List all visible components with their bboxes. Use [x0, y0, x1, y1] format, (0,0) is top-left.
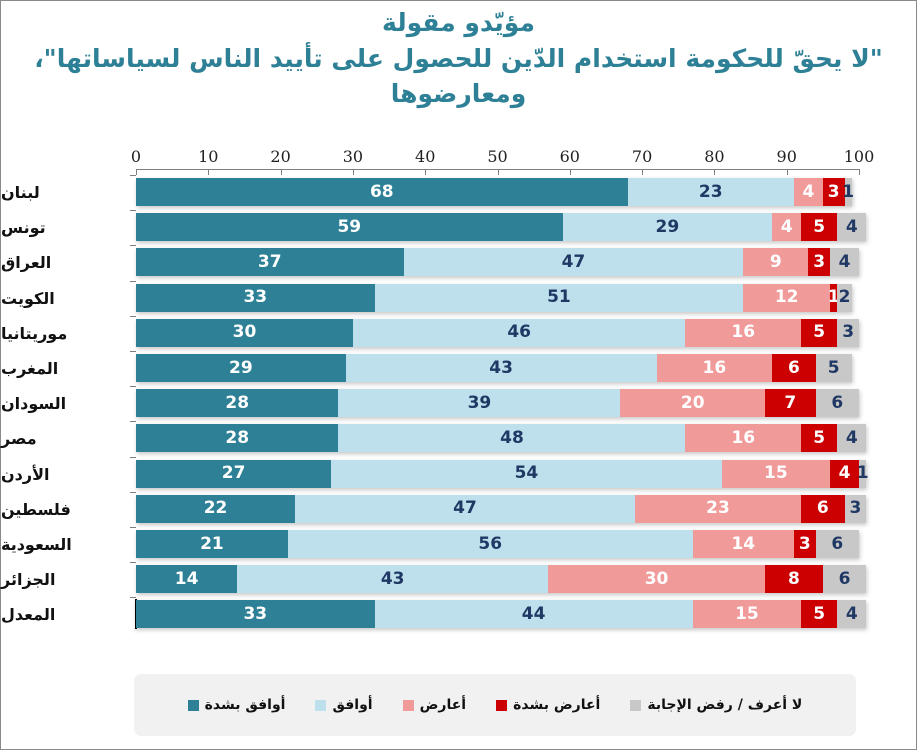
- bar-segment: 6: [816, 530, 859, 558]
- bar-value-label: 4: [781, 219, 793, 236]
- bar-value-label: 33: [243, 606, 267, 623]
- bar-value-label: 16: [731, 324, 755, 341]
- x-axis-tick-40: 40: [415, 147, 435, 166]
- bar-segment: 33: [136, 284, 375, 312]
- bar-segment: 4: [830, 248, 859, 276]
- bar-segment: 5: [801, 319, 837, 347]
- x-axis-tick-50: 50: [487, 147, 507, 166]
- bar-segment: 43: [237, 565, 548, 593]
- bar-value-label: 16: [731, 430, 755, 447]
- bar-value-label: 29: [229, 360, 253, 377]
- bar-segment: 28: [136, 389, 338, 417]
- legend-item-2[interactable]: أعارض: [403, 697, 467, 713]
- bar-value-label: 28: [225, 395, 249, 412]
- category-label-6: السودان: [1, 396, 124, 412]
- bar-value-label: 12: [775, 289, 799, 306]
- bar-value-label: 4: [846, 430, 858, 447]
- legend-label: أوافق: [332, 697, 372, 713]
- x-axis-tick-labels: 0102030405060708090100: [136, 147, 859, 169]
- bar-segment: 5: [801, 424, 837, 452]
- bar-segment: 44: [375, 600, 693, 628]
- legend-label: أعارض بشدة: [513, 697, 600, 713]
- bar-segment: 2: [837, 284, 851, 312]
- plot-area: 6823431592945437479343351121230461653294…: [136, 173, 859, 643]
- bar-segment: 4: [837, 424, 866, 452]
- bar-value-label: 14: [731, 536, 755, 553]
- category-label-9: فلسطين: [1, 502, 124, 518]
- bar-value-label: 5: [813, 606, 825, 623]
- bar-value-label: 2: [839, 289, 851, 306]
- chart-title: مؤيّدو مقولة "لا يحقّ للحكومة استخدام ال…: [1, 5, 916, 112]
- bar-value-label: 6: [831, 395, 843, 412]
- bar-segment: 22: [136, 495, 295, 523]
- category-label-2: العراق: [1, 255, 124, 271]
- bar-value-label: 6: [831, 536, 843, 553]
- bar-value-label: 3: [849, 500, 861, 517]
- bar-value-label: 8: [788, 571, 800, 588]
- bar-segment: 6: [823, 565, 866, 593]
- bar-value-label: 44: [522, 606, 546, 623]
- bar-value-label: 4: [846, 606, 858, 623]
- bar-value-label: 39: [468, 395, 492, 412]
- bar-segment: 28: [136, 424, 338, 452]
- bar-value-label: 16: [703, 360, 727, 377]
- bar-value-label: 4: [846, 219, 858, 236]
- bar-segment: 23: [635, 495, 801, 523]
- legend-label: أعارض: [420, 697, 467, 713]
- bar-value-label: 27: [222, 465, 246, 482]
- bar-segment: 20: [620, 389, 765, 417]
- bar-value-label: 22: [204, 500, 228, 517]
- category-label-4: موريتانيا: [1, 326, 124, 342]
- bar-segment: 4: [772, 213, 801, 241]
- bar-segment: 16: [657, 354, 773, 382]
- bar-segment: 30: [136, 319, 353, 347]
- legend-item-3[interactable]: أعارض بشدة: [496, 697, 600, 713]
- bar-segment: 5: [816, 354, 852, 382]
- bar-segment: 16: [685, 424, 801, 452]
- bar-segment: 54: [331, 460, 721, 488]
- bar-segment: 47: [404, 248, 744, 276]
- bar-value-label: 20: [681, 395, 705, 412]
- chart-legend: أوافق بشدةأوافقأعارضأعارض بشدةلا أعرف / …: [134, 674, 856, 736]
- bar-segment: 37: [136, 248, 404, 276]
- bar-value-label: 56: [478, 536, 502, 553]
- bar-segment: 5: [801, 213, 837, 241]
- bar-value-label: 3: [799, 536, 811, 553]
- x-axis-tick-10: 10: [198, 147, 218, 166]
- bar-segment: 4: [794, 178, 823, 206]
- bar-value-label: 9: [770, 254, 782, 271]
- bar-value-label: 15: [764, 465, 788, 482]
- bar-value-label: 48: [500, 430, 524, 447]
- bar-value-label: 43: [489, 360, 513, 377]
- bar-segment: 6: [816, 389, 859, 417]
- bar-segment: 48: [338, 424, 685, 452]
- bar-value-label: 33: [243, 289, 267, 306]
- bar-value-label: 4: [839, 465, 851, 482]
- x-axis-tick-30: 30: [343, 147, 363, 166]
- category-label-10: السعودية: [1, 537, 124, 553]
- bar-value-label: 59: [337, 219, 361, 236]
- x-axis-tick-80: 80: [704, 147, 724, 166]
- bar-value-label: 54: [515, 465, 539, 482]
- bar-segment: 30: [548, 565, 765, 593]
- bar-segment: 46: [353, 319, 686, 347]
- bar-value-label: 6: [839, 571, 851, 588]
- bar-segment: 15: [693, 600, 801, 628]
- bar-value-label: 7: [784, 395, 796, 412]
- bar-value-label: 1: [857, 465, 869, 482]
- bar-segment: 3: [794, 530, 816, 558]
- bar-value-label: 15: [735, 606, 759, 623]
- category-label-0: لبنان: [1, 185, 124, 201]
- bar-value-label: 21: [200, 536, 224, 553]
- bar-value-label: 68: [370, 184, 394, 201]
- chart-title-line-2: "لا يحقّ للحكومة استخدام الدّين للحصول ع…: [1, 41, 916, 77]
- bar-value-label: 3: [842, 324, 854, 341]
- bar-value-label: 47: [453, 500, 477, 517]
- category-label-1: تونس: [1, 220, 124, 236]
- bar-segment: 5: [801, 600, 837, 628]
- chart-title-line-3: ومعارضوها: [1, 76, 916, 112]
- bar-value-label: 3: [828, 184, 840, 201]
- bar-segment: 4: [837, 600, 866, 628]
- bar-value-label: 51: [547, 289, 571, 306]
- bar-value-label: 1: [842, 184, 854, 201]
- category-label-11: الجزائر: [1, 572, 124, 588]
- legend-label: أوافق بشدة: [205, 697, 286, 713]
- bar-value-label: 5: [813, 430, 825, 447]
- bar-value-label: 30: [233, 324, 257, 341]
- bar-segment: 21: [136, 530, 288, 558]
- legend-swatch-icon: [403, 700, 414, 711]
- bar-segment: 9: [743, 248, 808, 276]
- legend-item-0[interactable]: أوافق بشدة: [188, 697, 286, 713]
- bar-value-label: 47: [562, 254, 586, 271]
- bar-segment: 43: [346, 354, 657, 382]
- bar-value-label: 23: [706, 500, 730, 517]
- bar-value-label: 3: [813, 254, 825, 271]
- bar-segment: 1: [845, 178, 852, 206]
- bar-segment: 39: [338, 389, 620, 417]
- bar-value-label: 5: [813, 219, 825, 236]
- bar-value-label: 29: [656, 219, 680, 236]
- legend-swatch-icon: [188, 700, 199, 711]
- bar-segment: 12: [743, 284, 830, 312]
- category-label-8: الأردن: [1, 467, 124, 483]
- legend-item-4[interactable]: لا أعرف / رفض الإجابة: [630, 697, 802, 713]
- category-label-3: الكويت: [1, 291, 124, 307]
- bar-segment: 4: [830, 460, 859, 488]
- bar-segment: 3: [808, 248, 830, 276]
- legend-swatch-icon: [315, 700, 326, 711]
- bar-segment: 56: [288, 530, 693, 558]
- legend-swatch-icon: [630, 700, 641, 711]
- bar-segment: 3: [845, 495, 867, 523]
- bar-segment: 29: [136, 354, 346, 382]
- bar-segment: 7: [765, 389, 816, 417]
- bar-segment: 23: [628, 178, 794, 206]
- bar-value-label: 30: [645, 571, 669, 588]
- bar-segment: 68: [136, 178, 628, 206]
- legend-item-1[interactable]: أوافق: [315, 697, 372, 713]
- bar-value-label: 23: [699, 184, 723, 201]
- bar-segment: 51: [375, 284, 744, 312]
- bar-segment: 3: [837, 319, 859, 347]
- bar-segment: 33: [136, 600, 375, 628]
- x-axis-tick-70: 70: [632, 147, 652, 166]
- bar-segment: 1: [830, 284, 837, 312]
- bar-segment: 6: [801, 495, 844, 523]
- bar-value-label: 4: [802, 184, 814, 201]
- category-label-12: المعدل: [1, 607, 124, 623]
- x-axis-tick-20: 20: [270, 147, 290, 166]
- bar-value-label: 28: [225, 430, 249, 447]
- bar-segment: 1: [859, 460, 866, 488]
- bar-segment: 47: [295, 495, 635, 523]
- bar-segment: 4: [837, 213, 866, 241]
- bar-value-label: 6: [788, 360, 800, 377]
- bar-segment: 14: [693, 530, 794, 558]
- bar-value-label: 37: [258, 254, 282, 271]
- category-label-7: مصر: [1, 431, 124, 447]
- x-axis-tick-0: 0: [131, 147, 141, 166]
- bar-value-label: 6: [817, 500, 829, 517]
- x-axis-tick-90: 90: [777, 147, 797, 166]
- x-axis-tick-100: 100: [844, 147, 875, 166]
- x-axis-tick-60: 60: [560, 147, 580, 166]
- bar-value-label: 43: [381, 571, 405, 588]
- bar-value-label: 14: [175, 571, 199, 588]
- bar-segment: 59: [136, 213, 563, 241]
- legend-label: لا أعرف / رفض الإجابة: [647, 697, 802, 713]
- bar-segment: 16: [685, 319, 801, 347]
- bar-value-label: 5: [828, 360, 840, 377]
- bar-segment: 14: [136, 565, 237, 593]
- bar-segment: 6: [772, 354, 815, 382]
- x-axis-tick-mark: [859, 169, 860, 175]
- chart-title-line-1: مؤيّدو مقولة: [1, 5, 916, 41]
- bar-segment: 27: [136, 460, 331, 488]
- bar-segment: 8: [765, 565, 823, 593]
- bar-value-label: 4: [839, 254, 851, 271]
- y-axis-category-labels: لبنانتونسالعراقالكويتموريتانياالمغربالسو…: [1, 173, 130, 643]
- bar-value-label: 46: [507, 324, 531, 341]
- chart-container: مؤيّدو مقولة "لا يحقّ للحكومة استخدام ال…: [0, 0, 917, 750]
- bar-segment: 15: [722, 460, 830, 488]
- bar-segment: 29: [563, 213, 773, 241]
- legend-swatch-icon: [496, 700, 507, 711]
- category-label-5: المغرب: [1, 361, 124, 377]
- bar-value-label: 5: [813, 324, 825, 341]
